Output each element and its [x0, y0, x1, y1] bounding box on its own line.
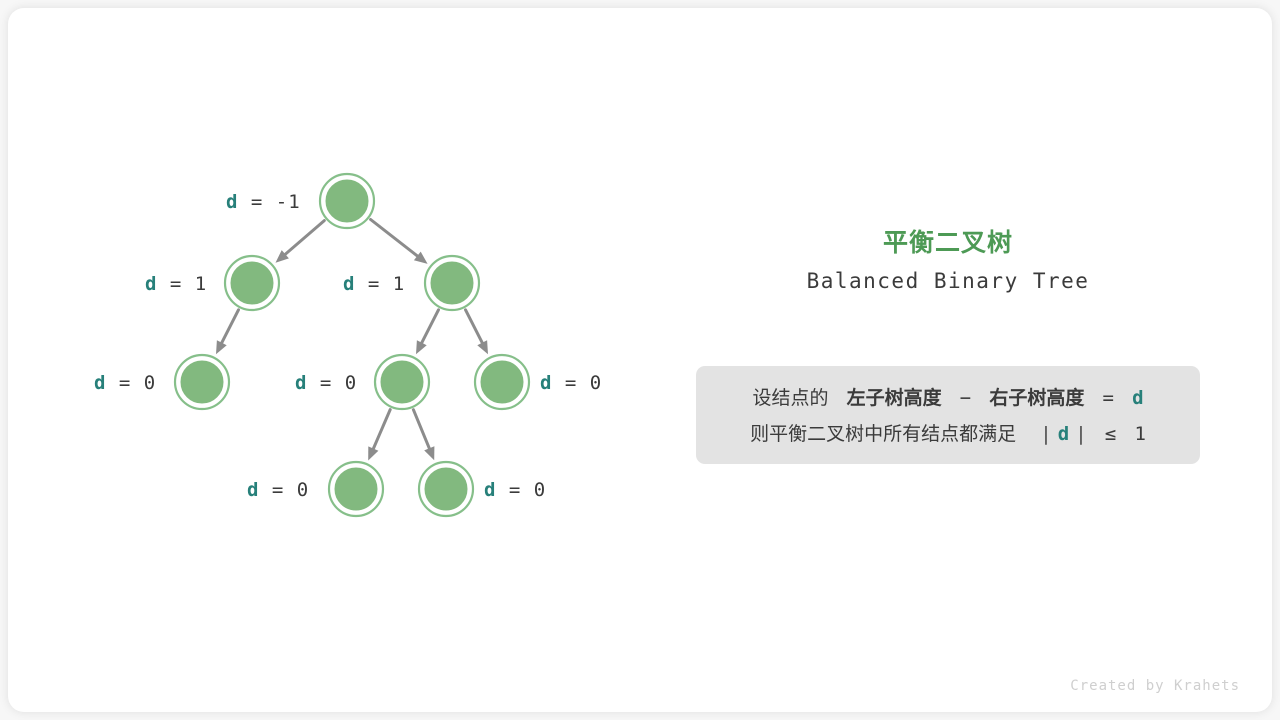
tree-edge [422, 310, 439, 343]
tree-edge [466, 310, 483, 343]
equals-operator: = [1103, 387, 1114, 409]
minus-operator: − [960, 387, 971, 409]
node-balance-value: -1 [276, 191, 301, 213]
node-balance-equals: = [496, 479, 533, 501]
node-balance-symbol: d [145, 273, 157, 295]
definition-box: 设结点的 左子树高度 − 右子树高度 = d 则平衡二叉树中所有结点都满足 | … [696, 366, 1200, 464]
node-balance-symbol: d [343, 273, 355, 295]
tree-node-disc [429, 260, 475, 306]
tree-edge [373, 410, 390, 449]
node-balance-equals: = [238, 191, 275, 213]
balance-factor-symbol: d [1132, 387, 1143, 409]
node-balance-value: 0 [534, 479, 546, 501]
node-balance-value: 0 [297, 479, 309, 501]
tree-node-disc [333, 466, 379, 512]
panel-title-en: Balanced Binary Tree [696, 264, 1200, 298]
tree-edge [413, 410, 429, 449]
condition-value: 1 [1134, 423, 1145, 445]
tree-node-disc [179, 359, 225, 405]
node-balance-value: 1 [393, 273, 405, 295]
definition-line-1: 设结点的 左子树高度 − 右子树高度 = d [696, 380, 1200, 416]
tree-node [320, 174, 374, 228]
left-subtree-height-term: 左子树高度 [847, 387, 942, 409]
node-balance-value: 0 [590, 372, 602, 394]
less-equal-operator: ≤ [1105, 423, 1116, 445]
info-panel: 平衡二叉树 Balanced Binary Tree [696, 225, 1200, 298]
definition-line-2: 则平衡二叉树中所有结点都满足 | d | ≤ 1 [696, 416, 1200, 452]
node-balance-label: d = 0 [94, 372, 156, 394]
tree-node [329, 462, 383, 516]
node-balance-value: 0 [144, 372, 156, 394]
tree-node [425, 256, 479, 310]
node-balance-label: d = 0 [295, 372, 357, 394]
credit-text: Created by Krahets [1070, 678, 1240, 694]
tree-node [375, 355, 429, 409]
tree-node-disc [379, 359, 425, 405]
right-subtree-height-term: 右子树高度 [989, 387, 1084, 409]
tree-node [475, 355, 529, 409]
tree-node-disc [479, 359, 525, 405]
abs-bar-left: | [1040, 423, 1051, 445]
node-balance-label: d = 0 [484, 479, 546, 501]
tree-edge [371, 220, 418, 256]
node-balance-symbol: d [540, 372, 552, 394]
tree-nodes [175, 174, 529, 516]
node-balance-equals: = [259, 479, 296, 501]
panel-title-cn: 平衡二叉树 [696, 225, 1200, 261]
node-balance-symbol: d [94, 372, 106, 394]
node-balance-label: d = 1 [145, 273, 207, 295]
abs-bar-right: | [1075, 423, 1086, 445]
tree-node [175, 355, 229, 409]
node-balance-label: d = -1 [226, 191, 301, 213]
tree-edge-arrowhead [424, 446, 434, 460]
tree-node [419, 462, 473, 516]
tree-edge [285, 221, 324, 255]
tree-node-disc [423, 466, 469, 512]
node-balance-symbol: d [295, 372, 307, 394]
node-balance-symbol: d [226, 191, 238, 213]
node-balance-equals: = [106, 372, 143, 394]
binary-tree-graphic [0, 0, 1280, 720]
diagram-page: d = -1d = 1d = 1d = 0d = 0d = 0d = 0d = … [0, 0, 1280, 720]
tree-node-disc [229, 260, 275, 306]
node-balance-value: 1 [195, 273, 207, 295]
node-balance-symbol: d [484, 479, 496, 501]
node-balance-equals: = [355, 273, 392, 295]
node-balance-equals: = [307, 372, 344, 394]
node-balance-label: d = 0 [540, 372, 602, 394]
balance-factor-symbol-abs: d [1058, 423, 1069, 445]
node-balance-value: 0 [345, 372, 357, 394]
tree-node [225, 256, 279, 310]
node-balance-symbol: d [247, 479, 259, 501]
condition-prefix: 则平衡二叉树中所有结点都满足 [750, 423, 1016, 445]
node-balance-equals: = [552, 372, 589, 394]
node-balance-equals: = [157, 273, 194, 295]
node-balance-label: d = 1 [343, 273, 405, 295]
tree-edge [222, 310, 239, 343]
tree-node-disc [324, 178, 370, 224]
definition-prefix: 设结点的 [752, 387, 828, 409]
node-balance-label: d = 0 [247, 479, 309, 501]
